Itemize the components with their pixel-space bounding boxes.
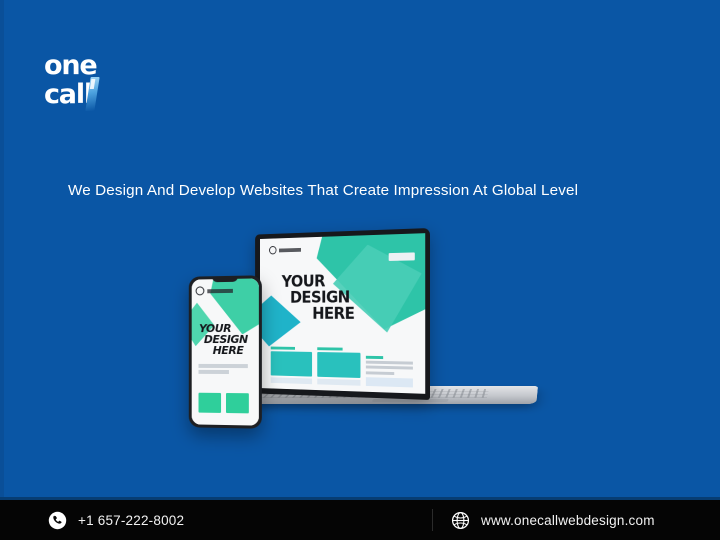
mockup-heading: YOUR DESIGN HERE (282, 273, 355, 322)
mockup-card-label (271, 346, 296, 349)
phone-mockup-card (226, 393, 249, 413)
footer-phone-contact[interactable]: +1 657-222-8002 (0, 500, 432, 540)
phone-mockup-card (198, 393, 221, 413)
footer-website-url: www.onecallwebdesign.com (481, 513, 655, 528)
phone-mockup-text-line (198, 364, 248, 368)
logo-line-one: one (44, 52, 134, 79)
footer-website-link[interactable]: www.onecallwebdesign.com (433, 500, 655, 540)
laptop-screen: YOUR DESIGN HERE (260, 233, 425, 394)
mockup-card (317, 347, 360, 385)
laptop-mockup: YOUR DESIGN HERE (232, 228, 482, 413)
mockup-text-label (366, 355, 384, 358)
phone-mockup-logo-mark-icon (196, 287, 205, 296)
globe-icon (451, 511, 470, 530)
mockup-text-block (366, 355, 413, 387)
mockup-card-caption (317, 378, 360, 385)
logo-line-call: call (44, 81, 134, 108)
mockup-card-image (317, 352, 360, 378)
slide-canvas: one call We Design And Develop Websites … (0, 0, 720, 540)
page-title: We Design And Develop Websites That Crea… (68, 182, 658, 199)
laptop-website-mockup: YOUR DESIGN HERE (260, 233, 425, 394)
mockup-logo-text (279, 248, 301, 252)
phone-mockup-heading-line-3: HERE (199, 345, 248, 356)
mockup-text-line (366, 371, 395, 375)
mockup-heading-line-3: HERE (282, 306, 355, 322)
footer-top-rule (0, 497, 720, 500)
phone-website-mockup: YOUR DESIGN HERE (192, 278, 259, 425)
mockup-card (271, 346, 312, 384)
mockup-logo (269, 245, 301, 254)
mockup-card-caption (271, 377, 312, 384)
phone-screen: YOUR DESIGN HERE (192, 278, 259, 425)
mockup-text-line (366, 366, 413, 370)
left-edge-strip (0, 0, 4, 500)
mockup-logo-mark-icon (269, 246, 276, 255)
phone-mockup: YOUR DESIGN HERE (189, 275, 262, 428)
mockup-text-line (366, 360, 413, 364)
mockup-cta-button (388, 253, 414, 262)
footer-bar: +1 657-222-8002 www.onecallwebdesign.com (0, 500, 720, 540)
phone-mockup-card-row (198, 393, 249, 414)
device-mockup-artwork: YOUR DESIGN HERE (170, 228, 590, 453)
brand-logo[interactable]: one call (44, 52, 134, 112)
mockup-card-row (271, 346, 413, 387)
logo-line-call-text: call (44, 79, 92, 110)
phone-mockup-logo-text (207, 289, 233, 293)
phone-mockup-logo (196, 286, 233, 296)
phone-mockup-text-block (198, 364, 248, 377)
mockup-card-label (317, 347, 343, 350)
footer-phone-number: +1 657-222-8002 (78, 513, 184, 528)
mockup-text-panel (366, 377, 413, 387)
phone-notch (212, 276, 238, 282)
laptop-lid: YOUR DESIGN HERE (255, 228, 430, 400)
phone-mockup-heading: YOUR DESIGN HERE (199, 323, 248, 356)
phone-mockup-text-line (198, 370, 229, 374)
mockup-card-image (271, 351, 312, 376)
phone-icon (48, 511, 67, 530)
